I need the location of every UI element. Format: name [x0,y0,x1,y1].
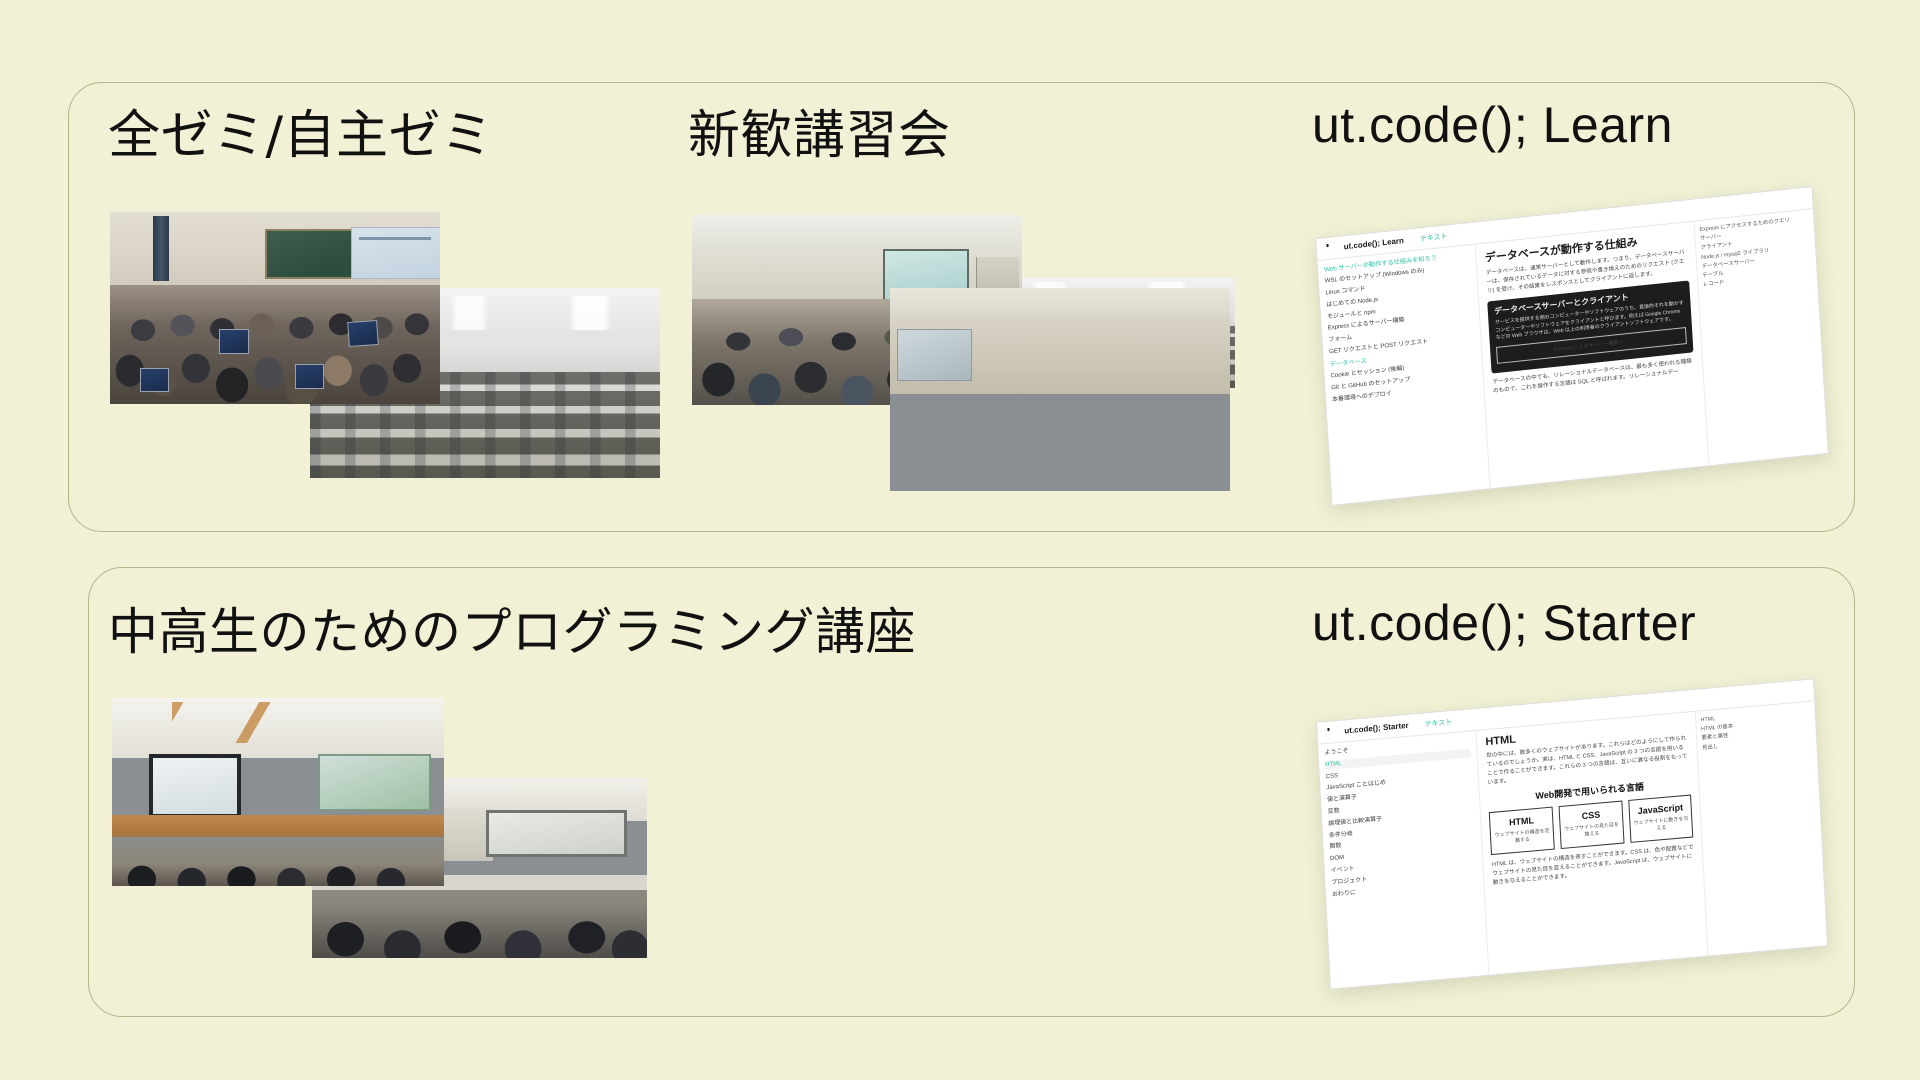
photo-lecture-hall-wide [110,212,440,404]
language-box-desc: ウェブサイトの構造を定義する [1494,828,1550,848]
section-title-shinkan: 新歓講習会 [688,93,951,168]
starter-content: HTML 世の中には、数多くのウェブサイトがあります。これらはどのようにして作ら… [1477,712,1708,975]
section-title-zenzemi: 全ゼミ/自主ゼミ [108,93,494,168]
starter-nav-text-link[interactable]: テキスト [1424,717,1452,729]
learn-content: データベースが動作する仕組み データベースは、通常サーバーとして動作します。つま… [1476,222,1709,489]
photo-shinkan-lecture [890,288,1230,491]
learn-browser-window[interactable]: ut.code(); Learn テキスト Web サーバーが動作する仕組みを知… [1315,186,1829,506]
utcode-logo-icon [1324,241,1338,255]
page-root: 全ゼミ/自主ゼミ 新歓講習会 ut.code(); Learn [0,0,1920,1080]
learn-toc-panel[interactable]: Express にアクセスするためのクエリ サーバー クライアント Node.j… [1694,209,1828,465]
starter-toc-panel[interactable]: HTML HTML の基本 要素と属性 見出し [1695,701,1827,955]
starter-brand-label: ut.code(); Starter [1344,721,1409,736]
language-box-javascript: JavaScript ウェブサイトに動きを与える [1628,794,1694,843]
learn-nav-text-link[interactable]: テキスト [1419,231,1447,244]
utcode-learn-screenshot[interactable]: ut.code(); Learn テキスト Web サーバーが動作する仕組みを知… [1315,186,1829,506]
language-box-title: CSS [1563,808,1619,823]
section-title-chukousei: 中高生のためのプログラミング講座 [108,592,916,664]
learn-sidebar[interactable]: Web サーバーが動作する仕組みを知ろう WSL のセットアップ (Window… [1318,244,1491,504]
language-box-title: JavaScript [1632,802,1688,817]
utcode-starter-screenshot[interactable]: ut.code(); Starter テキスト ようこそ HTML CSS Ja… [1316,678,1828,989]
section-title-utcode-starter: ut.code(); Starter [1312,594,1696,652]
language-box-title: HTML [1493,814,1549,829]
starter-sidebar[interactable]: ようこそ HTML CSS JavaScript ことはじめ 値と演算子 変数 … [1318,731,1490,989]
section-title-utcode-learn: ut.code(); Learn [1312,96,1673,154]
language-box-desc: ウェブサイトの見た目を整える [1564,822,1620,842]
photo-school-classroom-projector [112,698,444,886]
utcode-logo-icon [1325,725,1339,739]
language-box-desc: ウェブサイトに動きを与える [1633,816,1689,836]
starter-browser-window[interactable]: ut.code(); Starter テキスト ようこそ HTML CSS Ja… [1316,678,1828,989]
language-box-css: CSS ウェブサイトの見た目を整える [1559,800,1625,849]
learn-brand-label: ut.code(); Learn [1343,236,1404,251]
language-box-html: HTML ウェブサイトの構造を定義する [1489,806,1555,855]
